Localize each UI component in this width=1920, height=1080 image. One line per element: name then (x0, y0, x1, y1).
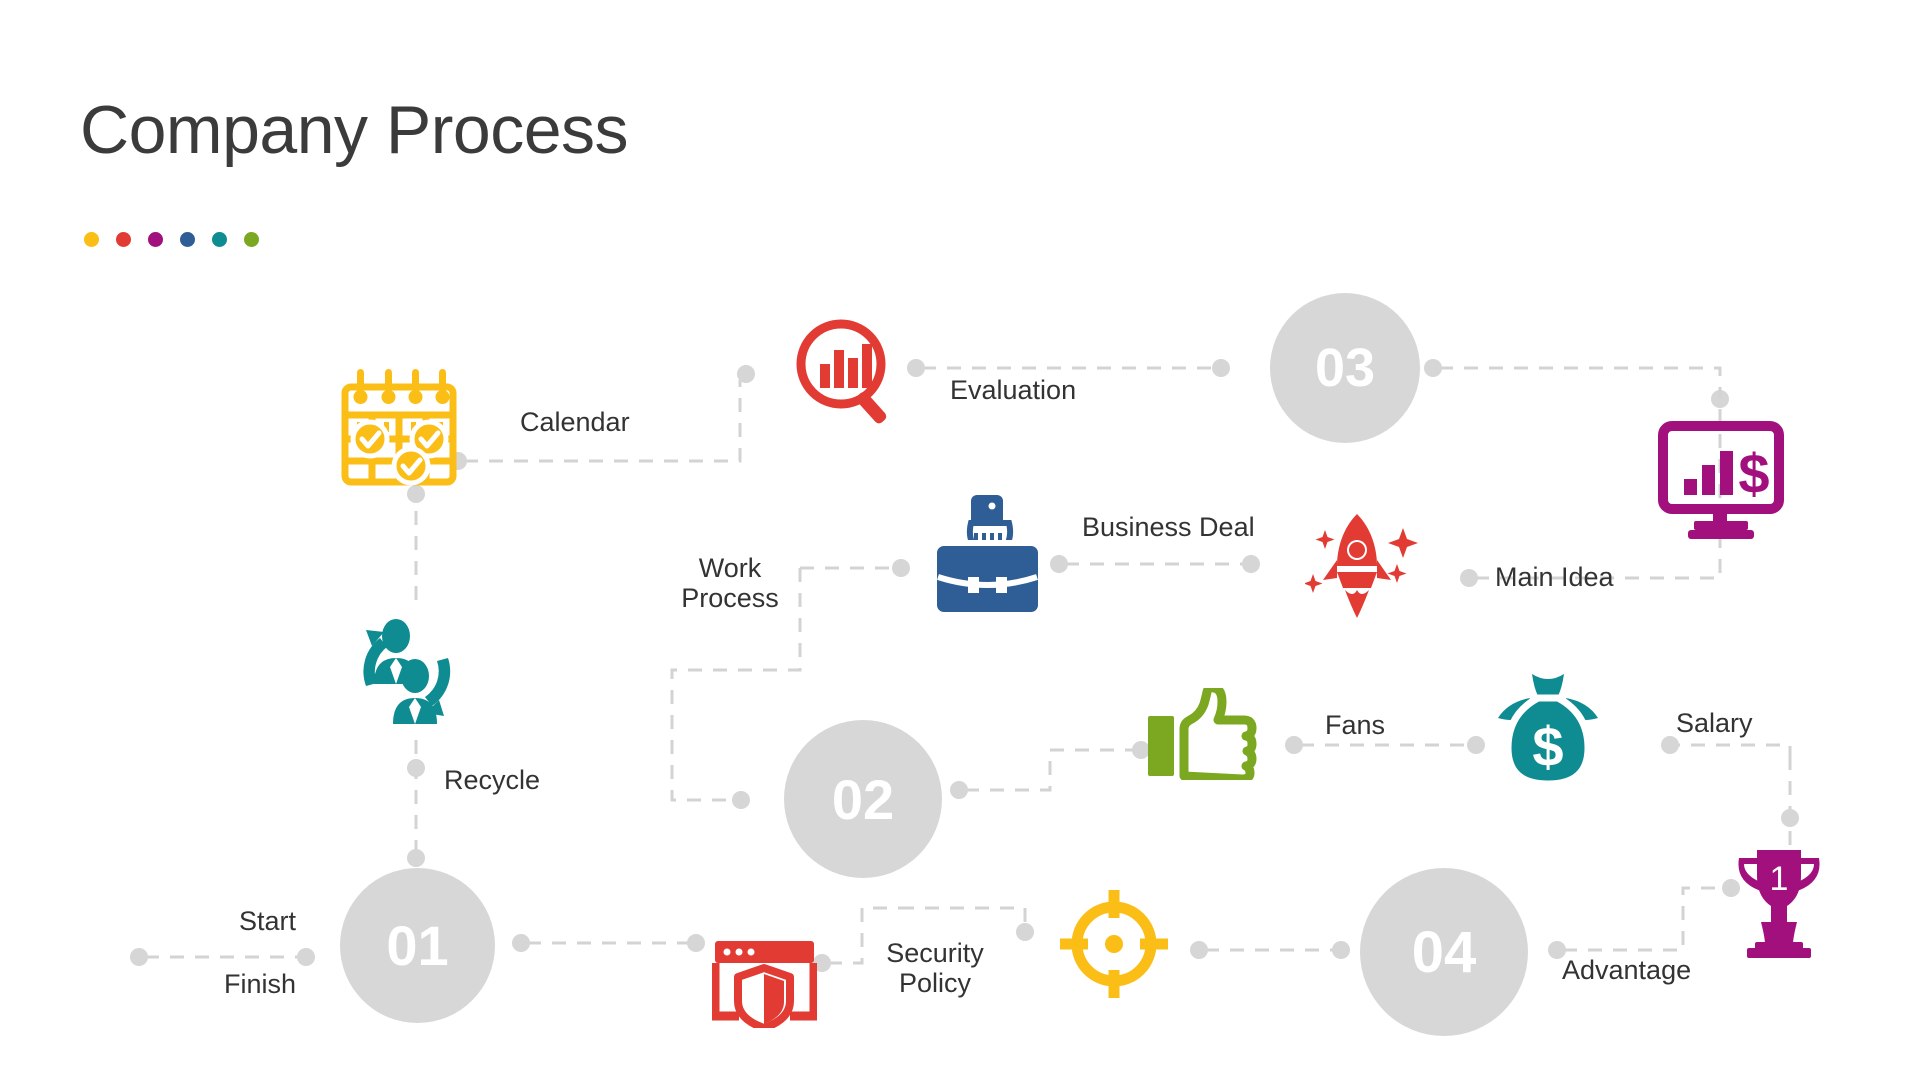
label-calendar: Calendar (520, 407, 630, 437)
label-main-idea: Main Idea (1495, 562, 1614, 592)
connector-dot (407, 849, 425, 867)
connector-dot (1467, 736, 1485, 754)
step-circle-04[interactable]: 04 (1360, 868, 1528, 1036)
label-recycle: Recycle (444, 765, 540, 795)
step-number-04: 04 (1412, 919, 1477, 986)
label-fans: Fans (1325, 710, 1385, 740)
step-number-03: 03 (1315, 337, 1375, 399)
connector-dot (950, 781, 968, 799)
label-work-process: Work Process (660, 553, 800, 613)
calendar-icon[interactable] (340, 367, 458, 487)
connector-dot (407, 759, 425, 777)
connector-dot (907, 359, 925, 377)
connector-dot (1285, 736, 1303, 754)
label-evaluation: Evaluation (950, 375, 1076, 405)
connector-dot (1781, 809, 1799, 827)
label-advantage: Advantage (1562, 955, 1691, 985)
connector-dot (297, 948, 315, 966)
trophy-rank-label: 1 (1770, 860, 1789, 898)
money-bag-icon[interactable]: $ (1488, 670, 1608, 792)
connector-dot (1212, 359, 1230, 377)
monitor-dollar-icon[interactable]: $ (1658, 421, 1784, 541)
recycle-people-icon[interactable] (348, 614, 468, 732)
connector-dot (737, 365, 755, 383)
label-business-deal: Business Deal (1082, 512, 1255, 542)
step-number-02: 02 (832, 767, 894, 832)
step-number-01: 01 (386, 913, 448, 978)
briefcase-hand-icon[interactable] (930, 495, 1045, 620)
connector-dot (732, 791, 750, 809)
label-security-policy: Security Policy (860, 938, 1010, 998)
label-finish: Finish (186, 969, 296, 999)
connector-dot (1050, 555, 1068, 573)
slide-canvas: Company Process (0, 0, 1920, 1080)
thumbs-up-icon[interactable] (1148, 688, 1260, 780)
label-start: Start (186, 906, 296, 936)
connector-dot (1016, 923, 1034, 941)
connector-dot (687, 934, 705, 952)
label-salary: Salary (1676, 708, 1753, 738)
connector-dot (1190, 941, 1208, 959)
svg-text:$: $ (1532, 715, 1563, 778)
browser-shield-icon[interactable] (712, 938, 817, 1028)
connector-dot (1460, 569, 1478, 587)
step-circle-02[interactable]: 02 (784, 720, 942, 878)
connector-dot (1242, 555, 1260, 573)
magnifier-chart-icon[interactable] (795, 318, 900, 428)
connector-dot (407, 485, 425, 503)
connector-dot (1332, 941, 1350, 959)
rocket-icon[interactable] (1305, 512, 1423, 624)
connector-dot (892, 559, 910, 577)
target-icon[interactable] (1058, 888, 1170, 1000)
trophy-icon[interactable]: 1 (1733, 848, 1825, 958)
svg-text:$: $ (1738, 442, 1769, 505)
connector-dot (1661, 736, 1679, 754)
connector-dot (512, 934, 530, 952)
step-circle-03[interactable]: 03 (1270, 293, 1420, 443)
step-circle-01[interactable]: 01 (340, 868, 495, 1023)
connector-dot (1424, 359, 1442, 377)
connector-dot (130, 948, 148, 966)
